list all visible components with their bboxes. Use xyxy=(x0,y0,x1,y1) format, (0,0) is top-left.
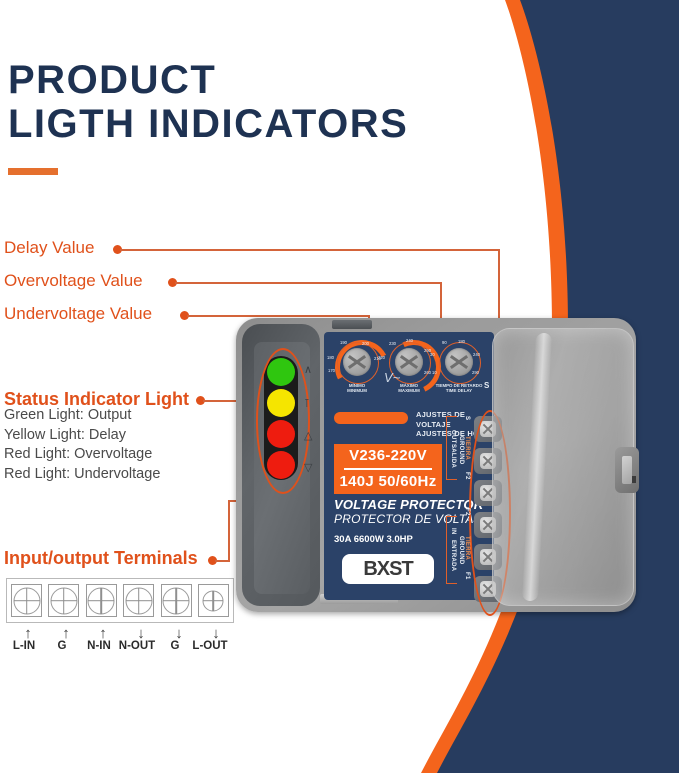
page-title-line1: PRODUCT xyxy=(8,58,216,102)
dial-delay-num-2: 90 xyxy=(442,340,447,345)
callout-overvoltage-line-h xyxy=(175,282,441,284)
device-hinge-top xyxy=(332,320,372,329)
terminal-label-3: N-OUT xyxy=(113,640,161,652)
dial-delay-caption-en: TIME DELAY xyxy=(428,388,490,393)
page-title-line2: LIGTH INDICATORS xyxy=(8,102,528,146)
terminal-arrow-1: ↑ xyxy=(61,626,71,641)
infographic-page: PRODUCT LIGTH INDICATORS Delay Value Ove… xyxy=(0,0,679,773)
terminal-tag-f2-top: F2 xyxy=(464,472,470,480)
dial-minimum-num-3: 200 xyxy=(362,341,369,346)
dial-time-delay[interactable]: 10 30 90 180 240 290 TIEMPO DE RETARDO T… xyxy=(436,340,482,398)
status-legend-item-0: Green Light: Output xyxy=(4,406,160,426)
dial-delay-num-0: 10 xyxy=(432,370,437,375)
terminal-screw-4 xyxy=(161,584,192,617)
status-legend-item-3: Red Light: Undervoltage xyxy=(4,465,160,485)
dial-minimum-knob[interactable] xyxy=(343,348,371,376)
callout-terminals-line-v xyxy=(228,500,230,560)
product-rating: 30A 6600W 3.0HP xyxy=(334,534,413,545)
spec-joules: 140J 50/60Hz xyxy=(334,470,442,494)
callout-overvoltage-value: Overvoltage Value xyxy=(4,271,143,291)
spec-voltage: V236-220V xyxy=(334,444,442,468)
terminal-arrow-2: ↑ xyxy=(98,626,108,641)
brand-logo-text: BXST xyxy=(363,558,412,581)
terminal-label-0: L-IN xyxy=(6,640,42,652)
callout-undervoltage-line-h xyxy=(187,315,369,317)
voltage-symbol: V~ xyxy=(384,370,400,385)
cover-latch-inner xyxy=(622,456,632,484)
callout-terminals-line-h1 xyxy=(215,560,230,562)
terminal-arrow-4: ↓ xyxy=(174,626,184,641)
dial-delay-num-3: 180 xyxy=(458,339,465,344)
callout-delay-line-h xyxy=(120,249,499,251)
dial-maximum-num-4: 260 xyxy=(424,370,431,375)
dial-minimum[interactable]: 170 180 190 200 210 MÍNIMO MINIMUM xyxy=(334,340,380,398)
title-underline-rule xyxy=(8,168,58,175)
status-legend-item-1: Yellow Light: Delay xyxy=(4,426,160,446)
terminal-block-diagram xyxy=(6,578,234,623)
terminal-arrow-0: ↑ xyxy=(23,626,33,641)
led-highlight-ellipse xyxy=(256,348,310,494)
callout-input-output-terminals: Input/output Terminals xyxy=(4,548,198,569)
spec-badge: V236-220V 140J 50/60Hz xyxy=(334,444,442,494)
terminal-screw-1 xyxy=(48,584,79,617)
terminal-screw-slot-v-4 xyxy=(175,588,177,614)
terminal-tag-ground-out-es: TIERRA xyxy=(464,436,470,460)
terminal-arrow-5: ↓ xyxy=(211,626,221,641)
terminal-screw-5 xyxy=(198,584,229,617)
adjustment-dials-group: 170 180 190 200 210 MÍNIMO MINIMUM 220 xyxy=(324,336,494,408)
terminal-tag-f1: F1 xyxy=(464,572,470,580)
dial-minimum-num-1: 180 xyxy=(327,355,334,360)
terminal-screw-0 xyxy=(11,584,42,617)
terminal-tag-ground-in-es: TIERRA xyxy=(464,536,470,560)
terminal-bracket-in xyxy=(446,516,457,584)
terminal-tag-s: S xyxy=(464,416,470,420)
terminal-screw-slot-v-1 xyxy=(63,588,65,614)
dial-maximum-num-2: 240 xyxy=(406,338,413,343)
triangle-up-icon: △ xyxy=(304,430,318,442)
page-title: PRODUCT LIGTH INDICATORS xyxy=(8,58,528,146)
dial-time-delay-caption: TIEMPO DE RETARDO TIME DELAY xyxy=(428,383,490,393)
dial-maximum[interactable]: 220 230 240 250 260 MÁXIMO MAXIMUM xyxy=(386,340,432,398)
terminal-arrow-3: ↓ xyxy=(136,626,146,641)
cover-latch-slot xyxy=(632,476,636,483)
status-legend-item-2: Red Light: Overvoltage xyxy=(4,445,160,465)
dial-minimum-num-0: 170 xyxy=(328,368,335,373)
terminal-label-5: L-OUT xyxy=(186,640,234,652)
callout-undervoltage-value: Undervoltage Value xyxy=(4,304,152,324)
voltage-protector-device: ∧ ⊺ △ ▽ 170 180 190 200 210 xyxy=(236,318,636,612)
dial-delay-num-4: 240 xyxy=(473,352,480,357)
terminal-bracket-out xyxy=(446,416,457,480)
device-faceplate: 170 180 190 200 210 MÍNIMO MINIMUM 220 xyxy=(324,332,494,600)
triangle-down-icon: ▽ xyxy=(304,462,318,474)
terminal-screw-slot-v-5 xyxy=(213,591,215,611)
cover-latch[interactable] xyxy=(615,447,639,493)
dial-time-delay-knob[interactable] xyxy=(445,348,473,376)
dial-maximum-num-1: 230 xyxy=(389,341,396,346)
device-transparent-cover[interactable] xyxy=(492,328,634,606)
terminal-tag-f2-bottom: F2 xyxy=(464,508,470,516)
terminal-label-1: G xyxy=(44,640,80,652)
callout-delay-value: Delay Value xyxy=(4,238,94,258)
dial-delay-num-1: 30 xyxy=(430,352,435,357)
hourglass-icon: ⊺ xyxy=(304,398,318,410)
seconds-symbol: S xyxy=(484,381,489,390)
device-left-panel: ∧ ⊺ △ ▽ xyxy=(242,324,320,606)
cover-reflection xyxy=(522,333,552,601)
product-name-english: VOLTAGE PROTECTOR xyxy=(334,497,483,512)
status-legend-list: Green Light: Output Yellow Light: Delay … xyxy=(4,406,160,484)
terminal-screw-3 xyxy=(123,584,154,617)
chevron-up-icon: ∧ xyxy=(304,364,318,376)
callout-delay-line-v xyxy=(498,249,500,327)
terminal-screw-slot-v-2 xyxy=(100,588,102,614)
dial-minimum-num-2: 190 xyxy=(340,340,347,345)
adjust-indicator-pill xyxy=(334,412,408,424)
dial-maximum-num-0: 220 xyxy=(378,355,385,360)
brand-logo-box: BXST xyxy=(342,554,434,584)
terminal-screw-2 xyxy=(86,584,117,617)
dial-delay-num-5: 290 xyxy=(472,370,479,375)
terminal-label-row: L-IN G N-IN N-OUT G L-OUT xyxy=(0,640,240,656)
terminal-screw-slot-v-0 xyxy=(26,588,28,614)
terminal-screw-slot-v-3 xyxy=(138,588,140,614)
